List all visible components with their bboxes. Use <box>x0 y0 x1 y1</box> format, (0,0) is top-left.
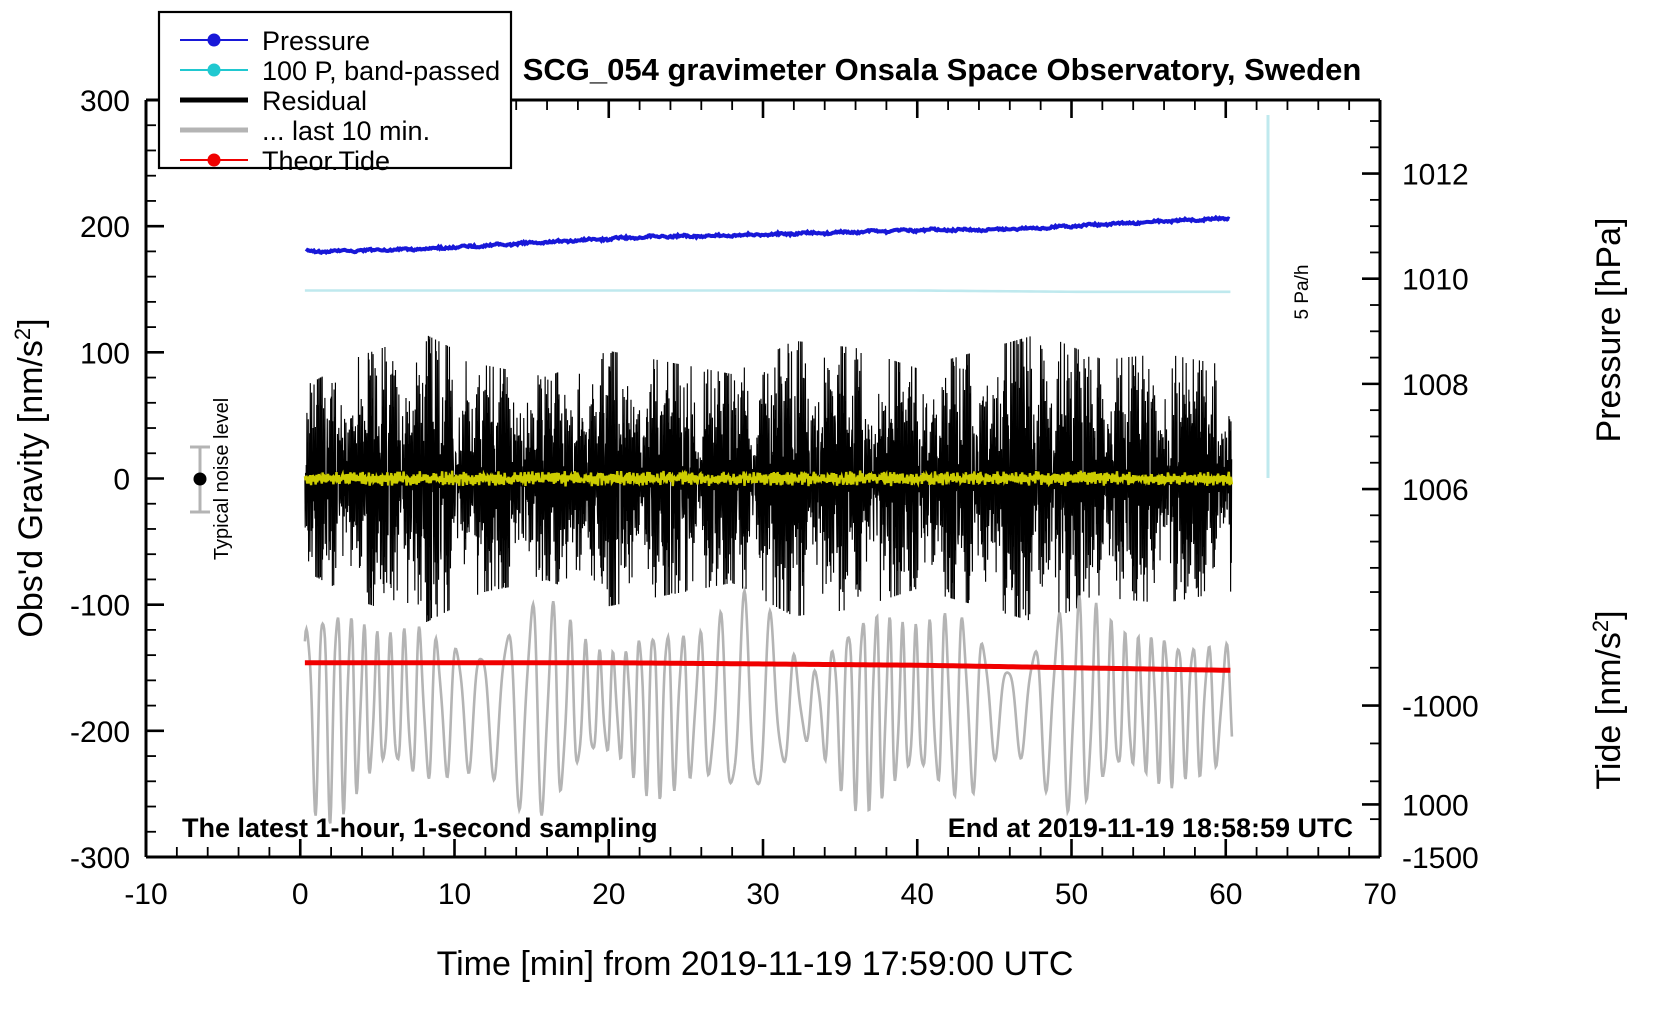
legend-item-label: Pressure <box>262 26 370 56</box>
x-tick-label: 60 <box>1209 878 1242 911</box>
series-band-passed <box>305 291 1231 292</box>
legend-item-label: 100 P, band-passed <box>262 56 500 86</box>
x-tick-label: 0 <box>292 878 309 911</box>
svg-text:Pressure [hPa]: Pressure [hPa] <box>1590 218 1628 443</box>
x-tick-label: 70 <box>1363 878 1396 911</box>
x-tick-label: 10 <box>438 878 471 911</box>
svg-text:Obs'd Gravity [nm/s2]: Obs'd Gravity [nm/s2] <box>10 318 50 637</box>
y-left-title-main: Obs'd Gravity [nm/s <box>12 340 50 637</box>
y-right-tide-title-tail: ] <box>1590 610 1628 619</box>
y-right-pressure-tick-label: 1012 <box>1402 159 1469 192</box>
svg-text:Typical noise level: Typical noise level <box>211 398 233 560</box>
y-left-tick-label: -300 <box>70 842 130 875</box>
x-tick-label: 30 <box>746 878 779 911</box>
y-right-tide-title-sup: 2 <box>1588 620 1613 632</box>
typical-noise-level-label: Typical noise level <box>211 398 233 560</box>
y-left-tick-label: -100 <box>70 590 130 623</box>
y-left-tick-label: 0 <box>113 464 130 497</box>
y-left-title-tail: ] <box>12 318 50 327</box>
y-right-pressure-title: Pressure [hPa] <box>1590 218 1628 443</box>
legend-marker-dot <box>208 34 221 47</box>
legend: Pressure100 P, band-passedResidual... la… <box>159 12 511 176</box>
x-tick-label: -10 <box>124 878 167 911</box>
y-left-title-sup: 2 <box>10 328 35 340</box>
x-tick-label: 50 <box>1055 878 1088 911</box>
bottom-left-annotation: The latest 1-hour, 1-second sampling <box>182 813 658 843</box>
x-tick-label: 40 <box>901 878 934 911</box>
bottom-right-annotation: End at 2019-11-19 18:58:59 UTC <box>948 813 1353 843</box>
y-left-axis-title: Obs'd Gravity [nm/s2] <box>10 318 50 637</box>
y-left-tick-label: 300 <box>80 85 130 118</box>
y-left-tick-label: -200 <box>70 716 130 749</box>
y-right-pressure-tick-label: 1006 <box>1402 474 1469 507</box>
legend-item-label: ... last 10 min. <box>262 116 430 146</box>
y-right-pressure-tick-label: 1010 <box>1402 264 1469 297</box>
y-left-tick-label: 200 <box>80 211 130 244</box>
y-right-tide-title: Tide [nm/s2] <box>1588 610 1628 789</box>
y-right-tide-title-main: Tide [nm/s <box>1590 632 1628 789</box>
y-right-pressure-tick-label: 1008 <box>1402 369 1469 402</box>
x-axis-title: Time [min] from 2019-11-19 17:59:00 UTC <box>437 945 1074 983</box>
y-right-pressure-tick-label: 1000 <box>1402 789 1469 822</box>
legend-item-label: Residual <box>262 86 367 116</box>
legend-marker-dot <box>208 64 221 77</box>
y-right-tide-tick-label: -1500 <box>1402 842 1479 875</box>
svg-text:5 Pa/h: 5 Pa/h <box>1292 265 1313 320</box>
page-title: SCG_054 gravimeter Onsala Space Observat… <box>523 52 1362 87</box>
legend-marker-dot <box>208 154 221 167</box>
y-left-tick-label: 100 <box>80 337 130 370</box>
figure-canvas: -10010203040506070 Time [min] from 2019-… <box>0 0 1660 1020</box>
pressure-scalebar-label: 5 Pa/h <box>1292 265 1313 320</box>
y-right-tide-tick-label: -1000 <box>1402 691 1479 724</box>
svg-text:Tide [nm/s2]: Tide [nm/s2] <box>1588 610 1628 789</box>
legend-item-label: Theor.Tide <box>262 146 390 176</box>
gravimeter-plot: -10010203040506070 Time [min] from 2019-… <box>0 0 1660 1020</box>
x-tick-label: 20 <box>592 878 625 911</box>
